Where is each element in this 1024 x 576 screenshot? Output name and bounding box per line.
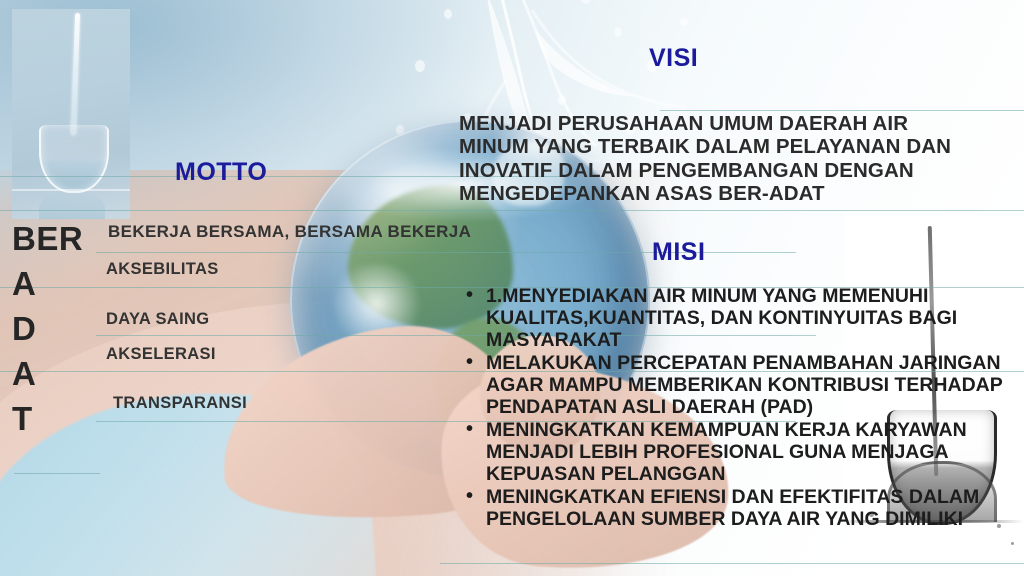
acronym-letter-a1: A xyxy=(12,267,98,300)
divider-line xyxy=(440,563,1024,564)
photo-water-pour-color xyxy=(12,9,130,219)
acronym-letter-t: T xyxy=(12,402,98,435)
motto-tagline: BEKERJA BERSAMA, BERSAMA BEKERJA xyxy=(108,222,471,242)
value-akselerasi: AKSELERASI xyxy=(106,345,216,364)
table-surface-line xyxy=(12,189,130,191)
misi-list-item: MENINGKATKAN EFIENSI DAN EFEKTIFITAS DAL… xyxy=(486,486,1024,530)
spray-droplet xyxy=(1011,542,1014,545)
ber-adat-acronym: BER A D A T xyxy=(12,222,98,435)
value-transparansi: TRANSPARANSI xyxy=(113,394,247,413)
misi-list-item: 1.MENYEDIAKAN AIR MINUM YANG MEMENUHI KU… xyxy=(486,285,1024,351)
misi-list-item: MELAKUKAN PERCEPATAN PENAMBAHAN JARINGAN… xyxy=(486,352,1024,418)
presentation-slide: MOTTO VISI MISI MENJADI PERUSAHAAN UMUM … xyxy=(0,0,1024,576)
misi-list: 1.MENYEDIAKAN AIR MINUM YANG MEMENUHI KU… xyxy=(462,285,1024,531)
misi-heading: MISI xyxy=(652,238,705,267)
divider-line xyxy=(660,110,1024,111)
acronym-letter-a2: A xyxy=(12,357,98,390)
value-aksebilitas: AKSEBILITAS xyxy=(106,260,219,279)
divider-line xyxy=(0,210,1024,211)
drinking-glass xyxy=(39,125,109,193)
motto-heading: MOTTO xyxy=(175,158,267,187)
divider-line xyxy=(14,473,100,474)
acronym-lead: BER xyxy=(12,222,98,255)
value-daya-saing: DAYA SAING xyxy=(106,310,209,329)
acronym-letter-d: D xyxy=(12,312,98,345)
glass-reflection xyxy=(39,191,105,219)
visi-heading: VISI xyxy=(649,44,698,73)
misi-list-item: MENINGKATKAN KEMAMPUAN KERJA KARYAWAN ME… xyxy=(486,419,1024,485)
water-stream xyxy=(71,13,80,135)
visi-body-text: MENJADI PERUSAHAAN UMUM DAERAH AIR MINUM… xyxy=(459,112,979,205)
